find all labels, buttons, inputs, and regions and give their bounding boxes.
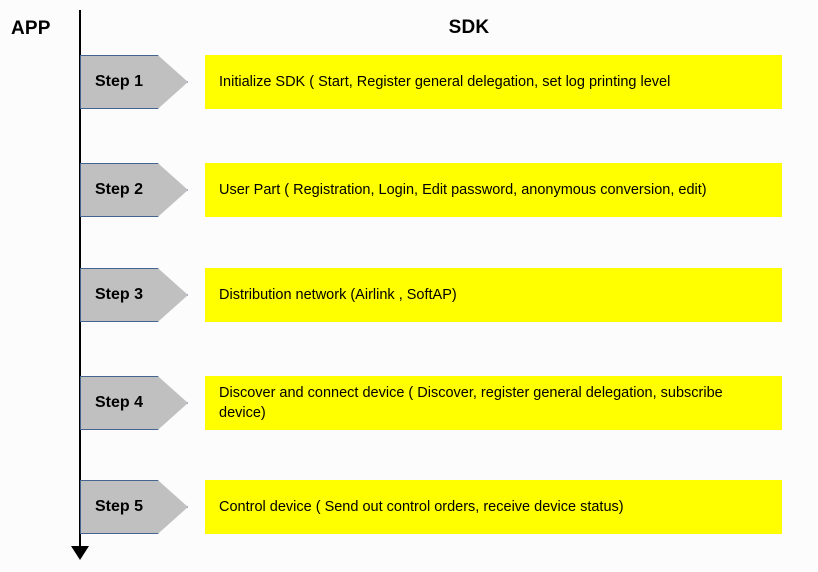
step-description-box-3: Distribution network (Airlink , SoftAP) [205, 268, 782, 322]
column-header-sdk: SDK [0, 17, 818, 39]
step-chevron-3[interactable]: Step 3 [80, 268, 188, 322]
step-label-4: Step 4 [80, 394, 143, 412]
step-description-box-1: Initialize SDK ( Start, Register general… [205, 55, 782, 109]
step-description-box-2: User Part ( Registration, Login, Edit pa… [205, 163, 782, 217]
step-chevron-1[interactable]: Step 1 [80, 55, 188, 109]
step-description-text-2: User Part ( Registration, Login, Edit pa… [219, 180, 768, 200]
lifeline-arrowhead-icon [71, 546, 89, 560]
step-label-5: Step 5 [80, 498, 143, 516]
step-description-text-4: Discover and connect device ( Discover, … [219, 383, 768, 423]
step-chevron-4[interactable]: Step 4 [80, 376, 188, 430]
step-description-box-4: Discover and connect device ( Discover, … [205, 376, 782, 430]
step-label-3: Step 3 [80, 286, 143, 304]
step-description-box-5: Control device ( Send out control orders… [205, 480, 782, 534]
step-description-text-1: Initialize SDK ( Start, Register general… [219, 72, 768, 92]
step-chevron-2[interactable]: Step 2 [80, 163, 188, 217]
diagram-canvas: APP SDK Step 1 Initialize SDK ( Start, R… [0, 0, 818, 572]
step-label-1: Step 1 [80, 73, 143, 91]
step-label-2: Step 2 [80, 181, 143, 199]
step-description-text-3: Distribution network (Airlink , SoftAP) [219, 285, 768, 305]
step-chevron-5[interactable]: Step 5 [80, 480, 188, 534]
step-description-text-5: Control device ( Send out control orders… [219, 497, 768, 517]
